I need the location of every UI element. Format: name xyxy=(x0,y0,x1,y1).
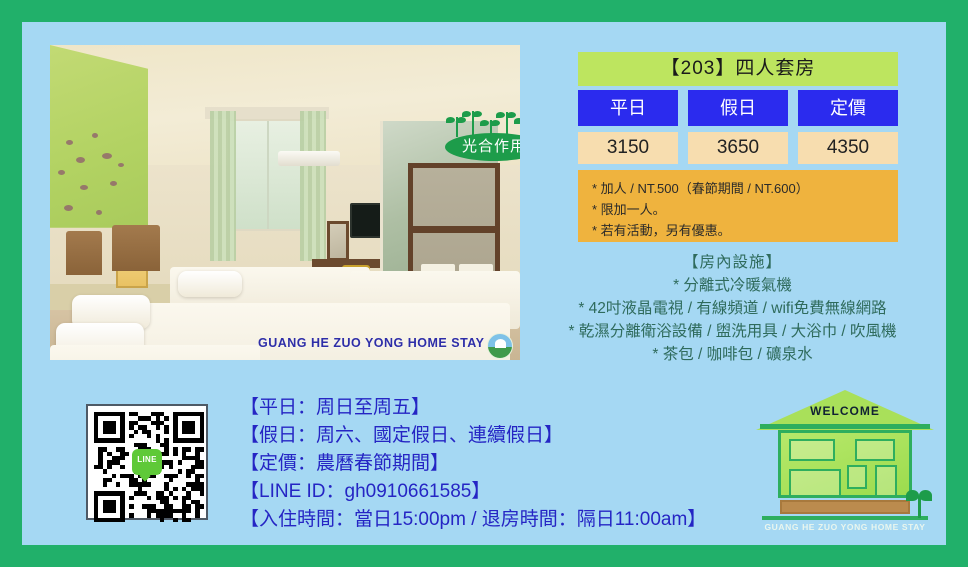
extra-person-notice: * 加人 / NT.500（春節期間 / NT.600） * 限加一人。 * 若… xyxy=(578,170,898,242)
line-qr-code[interactable]: LINE xyxy=(86,404,208,520)
facilities-heading: 【房內設施】 xyxy=(505,252,960,275)
photo-mirror xyxy=(327,221,349,261)
house-window-3 xyxy=(847,465,867,489)
photo-air-conditioner xyxy=(278,151,340,166)
photo-headboard-2 xyxy=(66,231,102,275)
house-window-1 xyxy=(789,439,835,461)
photosynthesis-badge: 光合作用 xyxy=(445,107,520,161)
booking-info-block: 【平日：周日至周五】 【假日：周六、國定假日、連續假日】 【定價：農曆春節期間】… xyxy=(240,394,750,534)
qr-grid: LINE xyxy=(94,412,200,512)
house-window-2 xyxy=(855,439,895,461)
photo-curtain-left xyxy=(210,111,236,261)
facilities-line-3: * 乾濕分離衛浴設備 / 盥洗用具 / 大浴巾 / 吹風機 xyxy=(505,321,960,344)
rate-header-weekday: 平日 xyxy=(578,90,678,126)
photo-bed-foreground xyxy=(50,345,260,360)
info-line-listprice: 【定價：農曆春節期間】 xyxy=(240,450,750,478)
house-door-large xyxy=(789,469,841,497)
rate-price-listprice: 4350 xyxy=(798,132,898,164)
photo-headboard-1 xyxy=(112,225,160,271)
welcome-house-logo: WELCOME GUANG HE ZUO YONG HOME STAY xyxy=(756,390,934,530)
rate-header-listprice: 定價 xyxy=(798,90,898,126)
poster-root: 光合作用 GUANG HE ZUO YONG HOME STAY 【203】四人… xyxy=(0,0,968,567)
info-line-lineid[interactable]: 【LINE ID：gh0910661585】 xyxy=(240,478,750,506)
notice-line-1: * 加人 / NT.500（春節期間 / NT.600） xyxy=(592,178,898,199)
notice-line-3: * 若有活動，另有優惠。 xyxy=(592,220,898,241)
house-logo-caption: GUANG HE ZUO YONG HOME STAY xyxy=(756,522,934,532)
house-base xyxy=(780,500,910,514)
info-line-weekend: 【假日：周六、國定假日、連續假日】 xyxy=(240,422,750,450)
photo-watermark-text: GUANG HE ZUO YONG HOME STAY xyxy=(258,336,485,350)
info-line-weekday: 【平日：周日至周五】 xyxy=(240,394,750,422)
photo-pillow-back xyxy=(178,271,242,297)
photo-green-accent-wall xyxy=(50,45,148,228)
room-photo: 光合作用 xyxy=(50,45,520,360)
rate-price-weekday: 3150 xyxy=(578,132,678,164)
rate-price-weekend: 3650 xyxy=(688,132,788,164)
photo-window xyxy=(228,119,306,231)
facilities-line-2: * 42吋液晶電視 / 有線頻道 / wifi免費無線網路 xyxy=(505,298,960,321)
house-ground-line xyxy=(762,516,928,520)
facilities-block: 【房內設施】 * 分離式冷暖氣機 * 42吋液晶電視 / 有線頻道 / wifi… xyxy=(505,252,960,367)
welcome-label: WELCOME xyxy=(756,404,934,418)
line-logo-icon: LINE xyxy=(132,449,162,475)
house-window-4 xyxy=(875,465,897,497)
facilities-line-1: * 分離式冷暖氣機 xyxy=(505,275,960,298)
house-body xyxy=(778,430,912,498)
rate-header-weekend: 假日 xyxy=(688,90,788,126)
house-roof-edge xyxy=(760,424,930,429)
info-line-checkin: 【入住時間：當日15:00pm / 退房時間：隔日11:00am】 xyxy=(240,506,750,534)
photo-curtain-right xyxy=(300,111,326,261)
facilities-line-4: * 茶包 / 咖啡包 / 礦泉水 xyxy=(505,344,960,367)
house-sprout-icon xyxy=(906,484,932,518)
notice-line-2: * 限加一人。 xyxy=(592,199,898,220)
room-title: 【203】四人套房 xyxy=(578,52,898,86)
photosynthesis-badge-label: 光合作用 xyxy=(445,133,520,161)
